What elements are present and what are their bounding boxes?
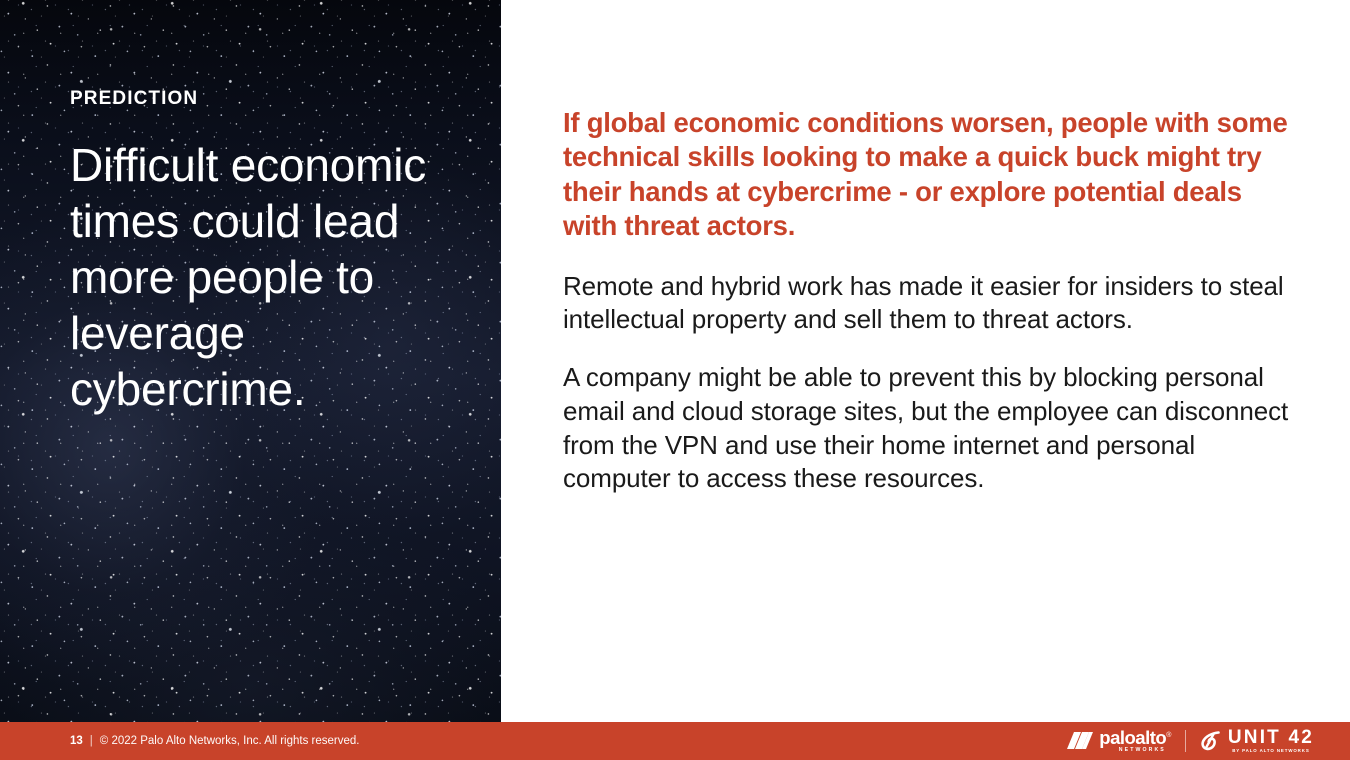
footer-logo-group: paloalto® NETWORKS UNIT 42 BY PALO ALTO … bbox=[1067, 728, 1332, 753]
paloalto-trademark-icon: ® bbox=[1166, 731, 1171, 738]
paloalto-subtitle: NETWORKS bbox=[1119, 748, 1171, 753]
page-number: 13 bbox=[70, 735, 83, 747]
footer-bar: 13 | © 2022 Palo Alto Networks, Inc. All… bbox=[0, 722, 1350, 760]
footer-separator: | bbox=[90, 735, 93, 747]
unit42-wordmark: UNIT 42 BY PALO ALTO NETWORKS bbox=[1228, 728, 1314, 753]
paloalto-slashes-icon bbox=[1067, 731, 1093, 750]
paloalto-wordmark: paloalto® NETWORKS bbox=[1099, 729, 1171, 754]
body-paragraph-2: A company might be able to prevent this … bbox=[563, 361, 1293, 496]
left-dark-panel: PREDICTION Difficult economic times coul… bbox=[0, 0, 501, 722]
slide-canvas: PREDICTION Difficult economic times coul… bbox=[0, 0, 1350, 760]
logo-divider bbox=[1185, 730, 1186, 752]
unit42-swirl-icon bbox=[1200, 731, 1221, 751]
palo-alto-networks-logo: paloalto® NETWORKS bbox=[1067, 729, 1171, 754]
unit42-subtitle: BY PALO ALTO NETWORKS bbox=[1232, 749, 1309, 753]
unit42-name: UNIT 42 bbox=[1228, 728, 1314, 747]
right-panel-content: If global economic conditions worsen, pe… bbox=[563, 106, 1293, 496]
lead-paragraph: If global economic conditions worsen, pe… bbox=[563, 106, 1293, 244]
paloalto-name: paloalto® bbox=[1099, 729, 1171, 748]
prediction-kicker-label: PREDICTION bbox=[70, 88, 470, 111]
copyright-text: © 2022 Palo Alto Networks, Inc. All righ… bbox=[100, 735, 360, 747]
page-title: Difficult economic times could lead more… bbox=[70, 137, 470, 418]
body-paragraph-1: Remote and hybrid work has made it easie… bbox=[563, 270, 1293, 338]
unit42-logo: UNIT 42 BY PALO ALTO NETWORKS bbox=[1200, 728, 1314, 753]
footer-left-group: 13 | © 2022 Palo Alto Networks, Inc. All… bbox=[70, 735, 359, 747]
right-content-panel: If global economic conditions worsen, pe… bbox=[501, 0, 1350, 722]
left-panel-content: PREDICTION Difficult economic times coul… bbox=[70, 88, 470, 417]
